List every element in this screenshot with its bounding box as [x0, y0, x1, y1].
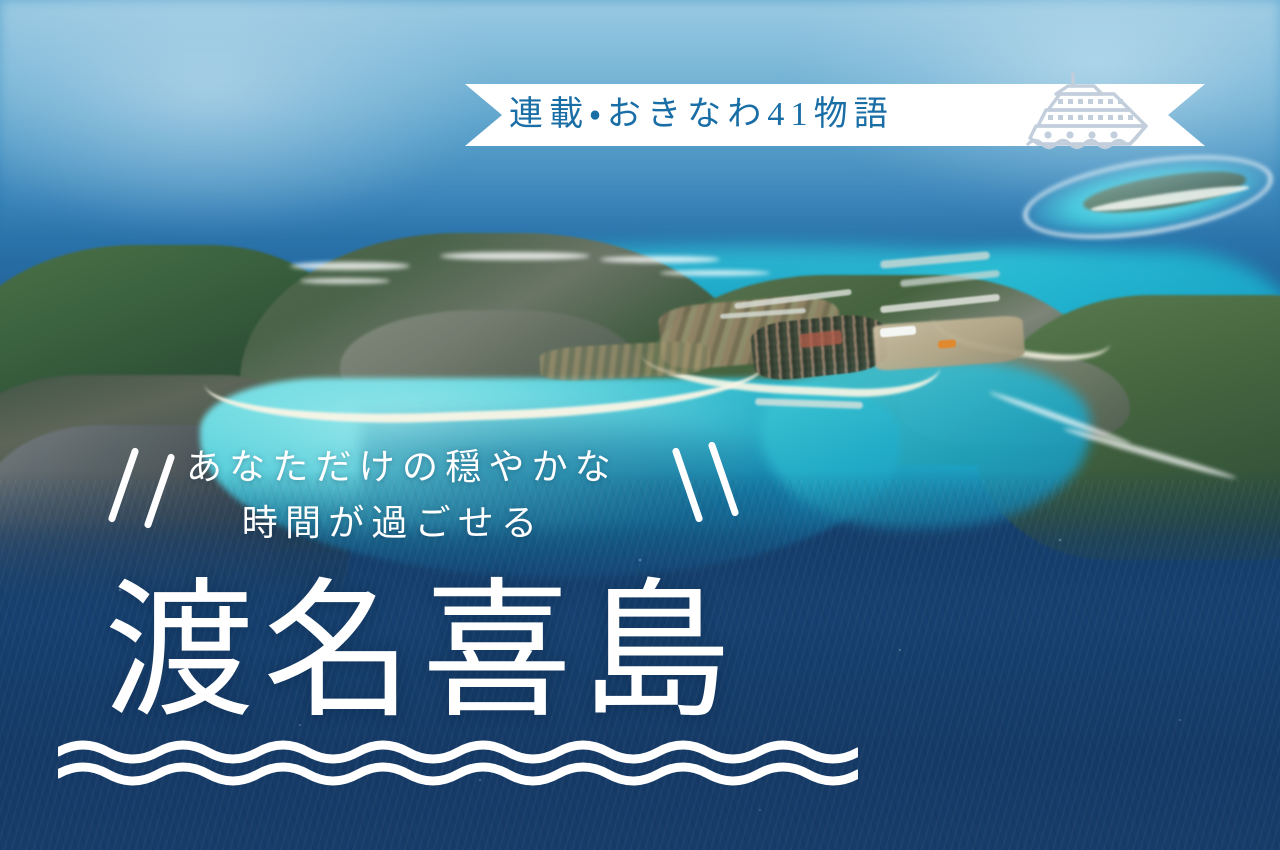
series-ribbon-label: 連載・おきなわ41物語: [509, 98, 894, 132]
island-title: 渡名喜島: [104, 578, 740, 728]
moored-work-boat: [938, 339, 957, 349]
hero-banner: 連載・おきなわ41物語 あなただけの穏やかな: [0, 0, 1280, 850]
wave-divider: [58, 736, 858, 794]
hero-subtitle: あなただけの穏やかな 時間が過ごせる: [0, 440, 780, 552]
series-ribbon: 連載・おきなわ41物語: [465, 84, 1205, 146]
hero-subtitle-line1: あなただけの穏やかな: [0, 440, 780, 496]
hero-subtitle-line2: 時間が過ごせる: [0, 496, 780, 552]
